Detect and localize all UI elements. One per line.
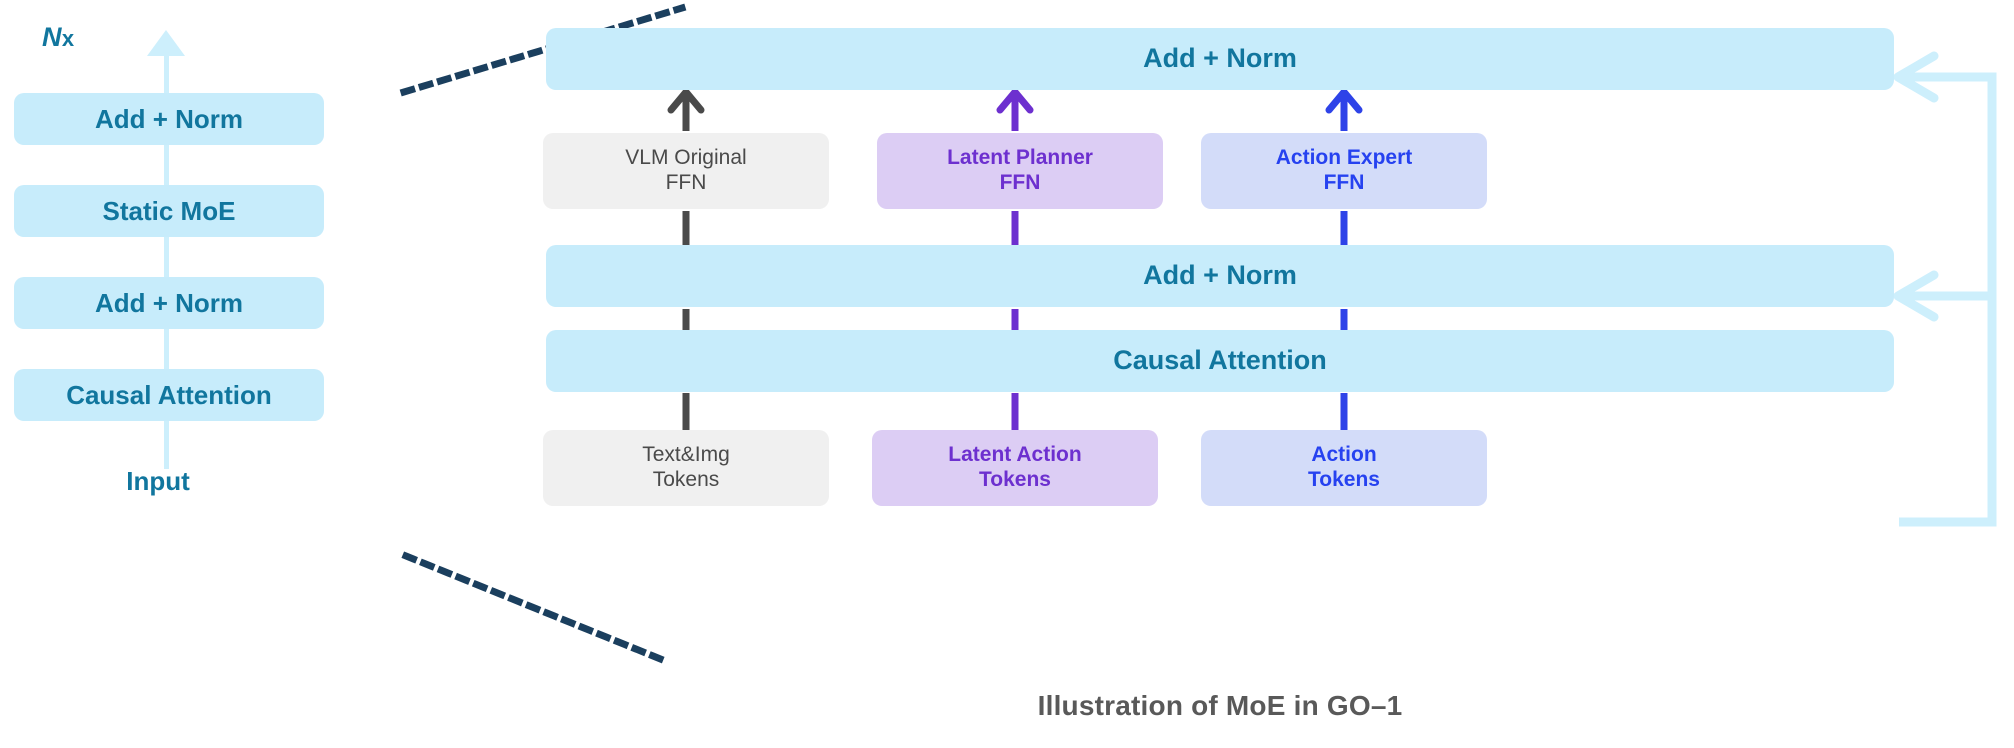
vlm-original-ffn-box[interactable]: VLM Original FFN xyxy=(543,133,829,209)
stack-spine-segment xyxy=(164,235,169,279)
vlm-arrow-up-icon xyxy=(671,92,701,131)
residual-arrow-upper xyxy=(1899,77,1992,296)
latent-planner-ffn-box[interactable]: Latent Planner FFN xyxy=(877,133,1163,209)
right-causal-attention[interactable]: Causal Attention xyxy=(546,330,1894,392)
action-arrow-up-icon xyxy=(1329,92,1359,131)
residual-arrow-lower-head xyxy=(1898,275,1934,317)
figure-caption: Illustration of MoE in GO–1 xyxy=(546,690,1894,722)
action-tokens-box[interactable]: Action Tokens xyxy=(1201,430,1487,506)
left-block-add-norm-top[interactable]: Add + Norm xyxy=(14,93,324,145)
residual-arrow-upper-head xyxy=(1898,56,1934,98)
stack-spine-segment xyxy=(164,327,169,371)
left-block-static-moe[interactable]: Static MoE xyxy=(14,185,324,237)
action-expert-ffn-box[interactable]: Action Expert FFN xyxy=(1201,133,1487,209)
latent-arrow-up-icon xyxy=(1000,92,1030,131)
text-img-tokens-box[interactable]: Text&Img Tokens xyxy=(543,430,829,506)
left-block-add-norm-bottom[interactable]: Add + Norm xyxy=(14,277,324,329)
right-add-norm-top[interactable]: Add + Norm xyxy=(546,28,1894,90)
moe-architecture-figure: Nx Add + Norm Static MoE Add + Norm Caus… xyxy=(0,0,2014,748)
stack-spine-segment xyxy=(164,38,169,96)
dotted-connector-bottom xyxy=(406,556,668,662)
repeat-count-label: Nx xyxy=(42,22,74,53)
right-add-norm-mid[interactable]: Add + Norm xyxy=(546,245,1894,307)
repeat-count-x: x xyxy=(62,26,75,51)
stack-spine-segment xyxy=(164,419,169,469)
latent-action-tokens-box[interactable]: Latent Action Tokens xyxy=(872,430,1158,506)
residual-arrow-lower xyxy=(1899,296,1992,522)
stack-spine-segment xyxy=(164,143,169,187)
left-block-causal-attention[interactable]: Causal Attention xyxy=(14,369,324,421)
input-label: Input xyxy=(118,466,198,497)
repeat-count-n: N xyxy=(42,22,62,52)
